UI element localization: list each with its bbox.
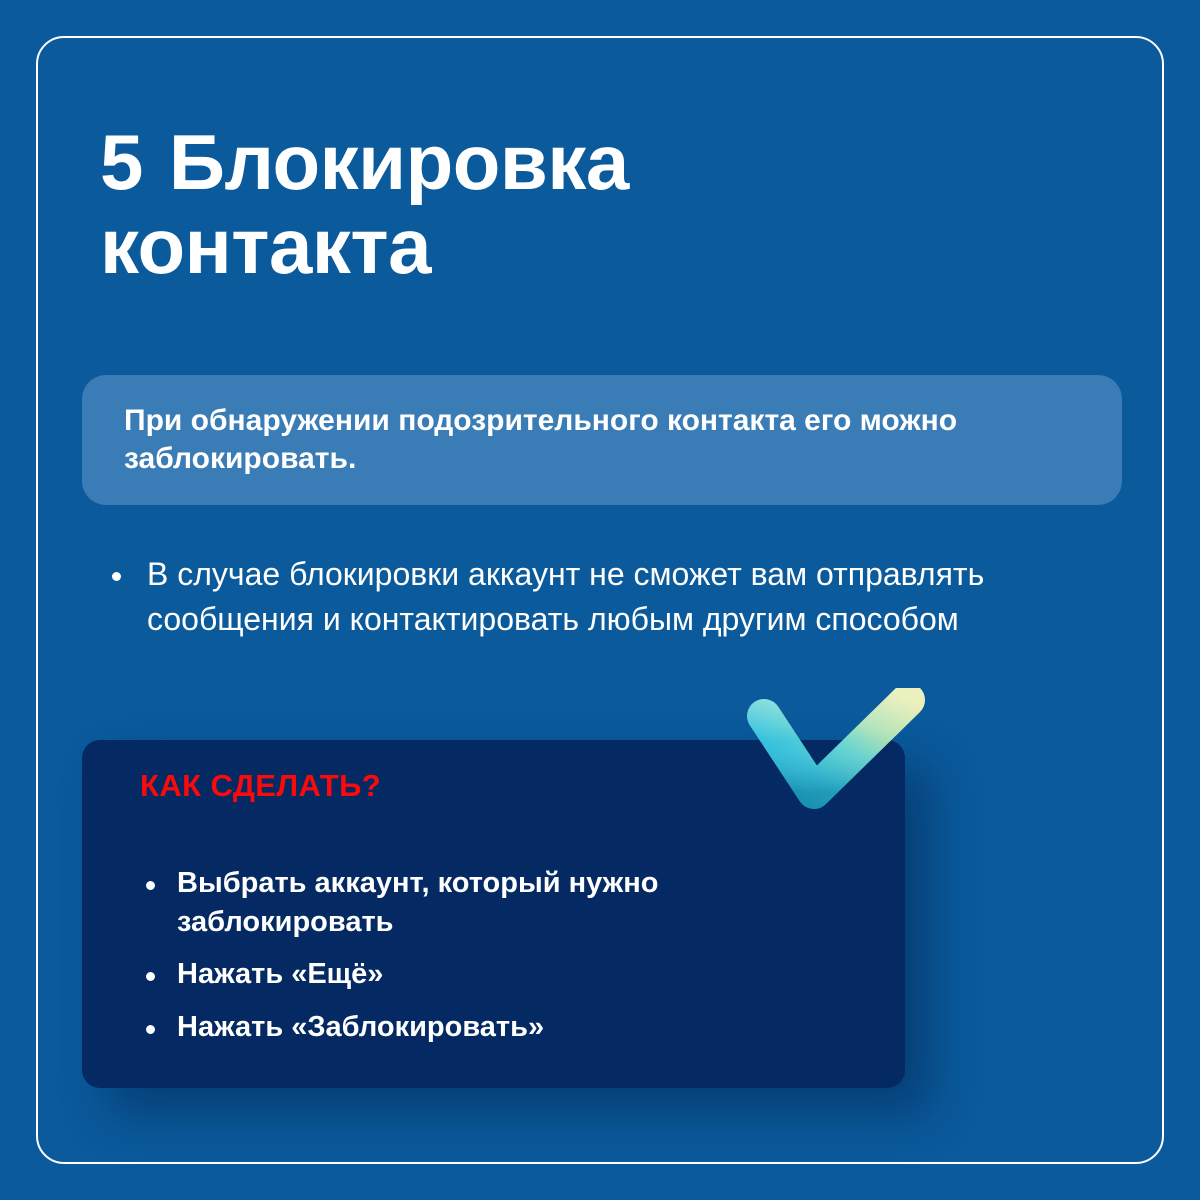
howto-step-text: Нажать «Ещё» [177,955,383,994]
bullet-dot-icon [146,1025,155,1034]
callout-text: При обнаружении подозрительного контакта… [124,402,1080,479]
title-line-two: контакта [100,204,1060,288]
bullet-dot-icon [112,572,121,581]
howto-heading: КАК СДЕЛАТЬ? [140,768,381,804]
howto-steps-list: Выбрать аккаунт, который нужно заблокиро… [146,864,866,1046]
list-item: В случае блокировки аккаунт не сможет ва… [112,552,1102,643]
bullet-dot-icon [146,881,155,890]
title-text-primary: Блокировка [169,118,629,206]
list-item: Нажать «Заблокировать» [146,1008,866,1047]
howto-step-text: Выбрать аккаунт, который нужно заблокиро… [177,864,866,941]
checkmark-icon [742,688,932,823]
bullet-dot-icon [146,972,155,981]
list-item: Нажать «Ещё» [146,955,866,994]
callout-box: При обнаружении подозрительного контакта… [82,375,1122,505]
howto-step-text: Нажать «Заблокировать» [177,1008,544,1047]
title-line-one: 5Блокировка [100,120,1060,204]
page-title: 5Блокировка контакта [100,120,1060,288]
list-item: Выбрать аккаунт, который нужно заблокиро… [146,864,866,941]
slide-root: 5Блокировка контакта При обнаружении под… [0,0,1200,1200]
notes-list: В случае блокировки аккаунт не сможет ва… [112,552,1102,643]
step-number: 5 [100,120,143,204]
note-text: В случае блокировки аккаунт не сможет ва… [147,552,1102,643]
